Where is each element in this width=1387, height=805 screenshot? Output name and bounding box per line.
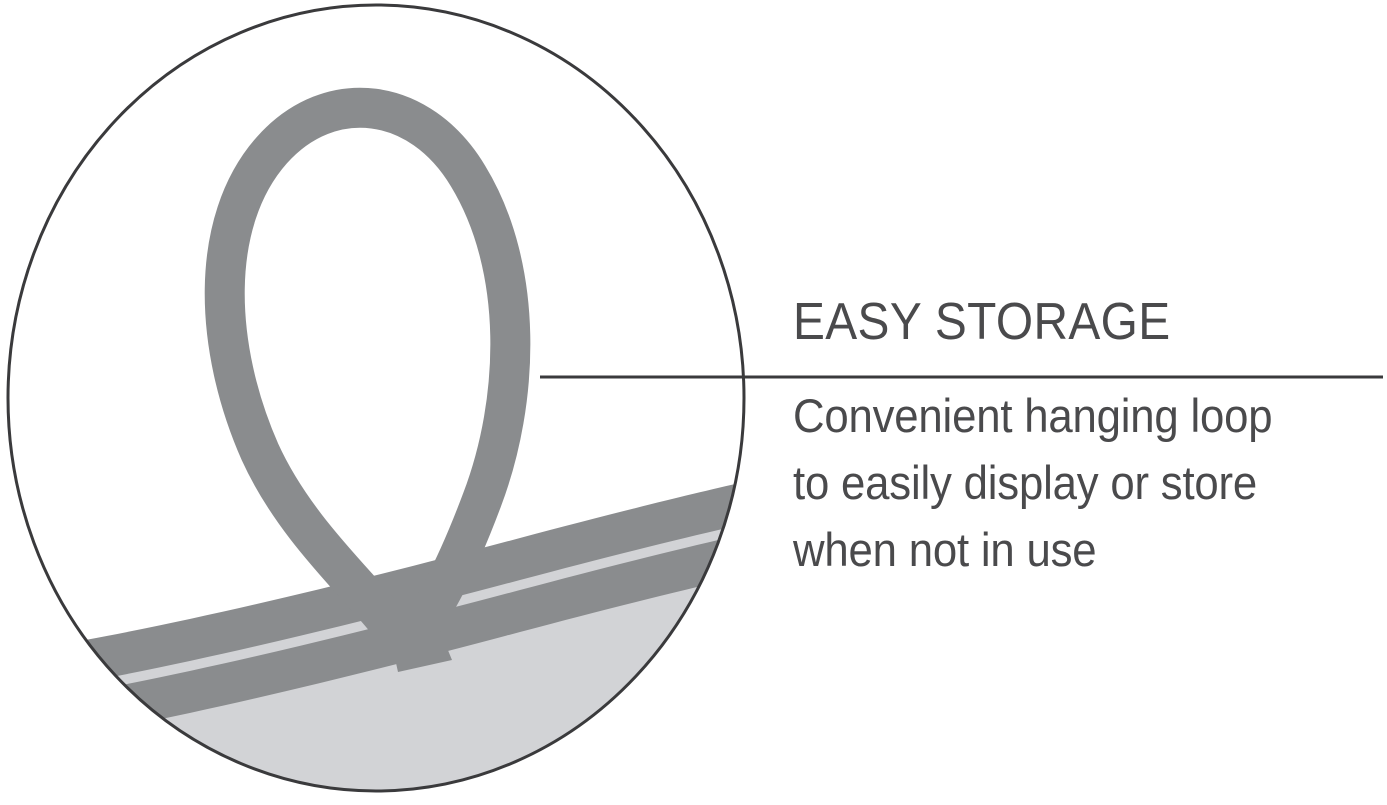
- feature-callout-panel: EASY STORAGE Convenient hanging loop to …: [0, 0, 1387, 805]
- feature-description: Convenient hanging loop to easily displa…: [793, 382, 1344, 583]
- feature-title: EASY STORAGE: [793, 292, 1338, 352]
- callout-text-block: EASY STORAGE Convenient hanging loop to …: [793, 292, 1385, 583]
- title-rule-spacer: [793, 352, 1385, 382]
- description-line-1: Convenient hanging loop: [793, 382, 1344, 449]
- description-line-3: when not in use: [793, 516, 1344, 583]
- description-line-2: to easily display or store: [793, 449, 1344, 516]
